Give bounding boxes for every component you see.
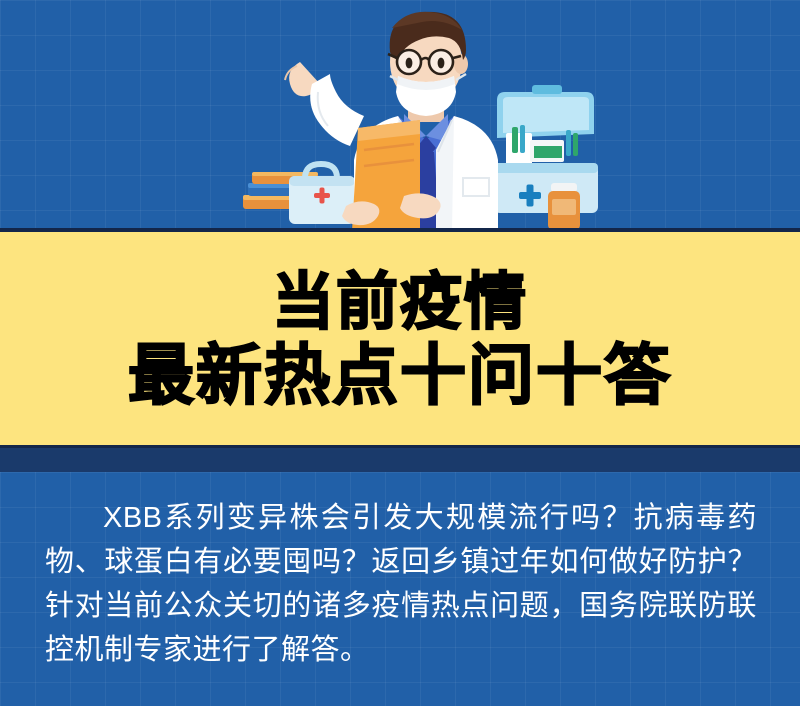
title-band: 当前疫情 最新热点十问十答	[0, 232, 800, 448]
title-line-2: 最新热点十问十答	[128, 342, 672, 409]
hero-illustration-band	[0, 0, 800, 231]
poster-root: 当前疫情 最新热点十问十答 XBB系列变异株会引发大规模流行吗？抗病毒药物、球蛋…	[0, 0, 800, 706]
open-palm-gesture-icon	[285, 62, 364, 146]
navy-accent-band	[0, 448, 800, 472]
medicine-bottle-icon	[548, 183, 580, 230]
body-paragraph: XBB系列变异株会引发大规模流行吗？抗病毒药物、球蛋白有必要囤吗？返回乡镇过年如…	[45, 496, 757, 672]
doctor-scene-illustration	[0, 0, 800, 231]
first-aid-kit-icon	[494, 85, 598, 213]
title-line-1: 当前疫情	[272, 271, 528, 334]
body-text-band: XBB系列变异株会引发大规模流行吗？抗病毒药物、球蛋白有必要囤吗？返回乡镇过年如…	[0, 472, 800, 706]
